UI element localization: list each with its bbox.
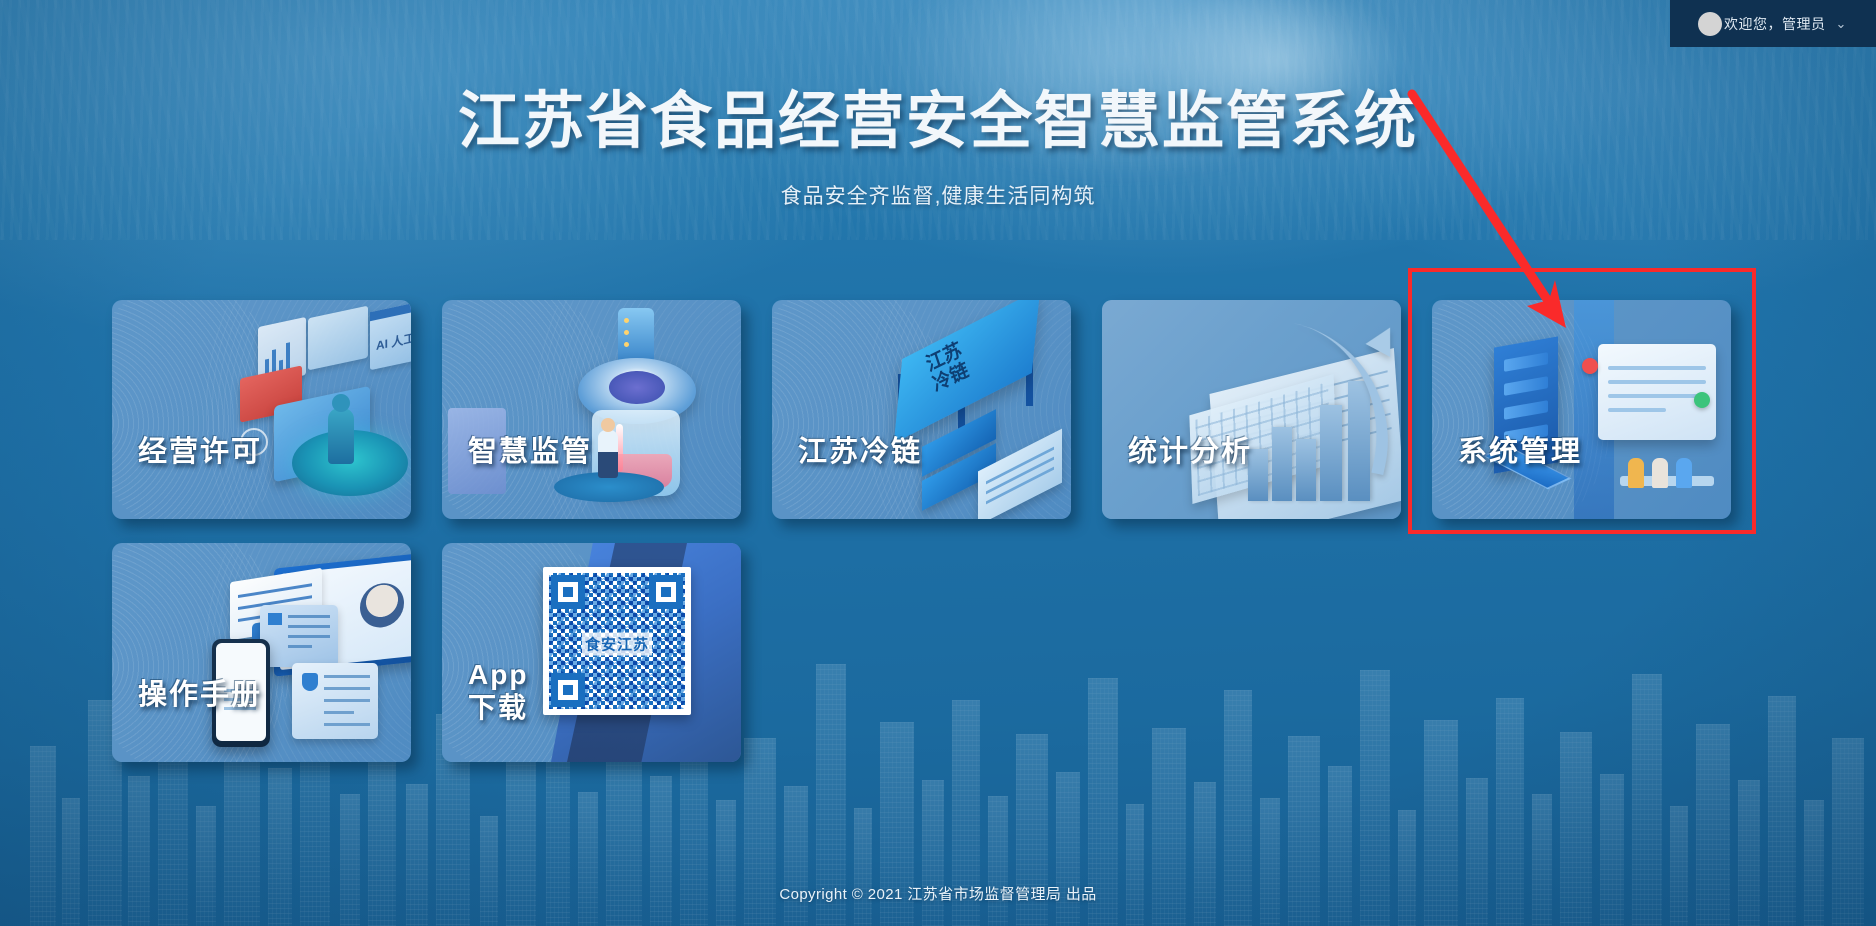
operation-manual-illustration xyxy=(112,543,411,762)
card-business-license[interactable]: AI 人工 经营许可 xyxy=(112,300,411,519)
card-label: 经营许可 xyxy=(138,428,262,470)
page-header: 江苏省食品经营安全智慧监管系统 食品安全齐监督,健康生活同构筑 xyxy=(0,0,1876,210)
card-label-line1: App xyxy=(468,659,528,690)
card-label: 系统管理 xyxy=(1458,428,1582,470)
card-system-management[interactable]: 系统管理 xyxy=(1432,300,1731,519)
smart-supervision-illustration xyxy=(442,300,741,519)
card-label-line2: 下载 xyxy=(468,692,528,723)
card-label: App 下载 xyxy=(468,658,528,724)
cold-chain-illustration: 江苏冷链 xyxy=(772,300,1071,519)
module-grid: AI 人工 经营许可 智慧监管 xyxy=(112,300,1772,762)
app-download-illustration: 食安江苏 xyxy=(442,543,741,762)
card-app-download[interactable]: 食安江苏 App 下载 xyxy=(442,543,741,762)
system-management-illustration xyxy=(1432,300,1731,519)
card-label: 统计分析 xyxy=(1128,428,1252,470)
card-jiangsu-cold-chain[interactable]: 江苏冷链 江苏冷链 xyxy=(772,300,1071,519)
cold-chain-slab-text: 江苏冷链 xyxy=(924,340,971,397)
card-label: 智慧监管 xyxy=(468,428,592,470)
card-label: 江苏冷链 xyxy=(798,428,922,470)
statistical-analysis-illustration xyxy=(1102,300,1401,519)
module-row-2: 操作手册 食安江苏 App 下载 xyxy=(112,543,1772,762)
page-title: 江苏省食品经营安全智慧监管系统 xyxy=(0,70,1876,160)
app-download-qr-code[interactable]: 食安江苏 xyxy=(543,567,691,715)
card-label: 操作手册 xyxy=(138,671,262,713)
footer-copyright: Copyright © 2021 江苏省市场监督管理局 出品 xyxy=(0,883,1876,904)
page-subtitle: 食品安全齐监督,健康生活同构筑 xyxy=(0,180,1876,210)
card-operation-manual[interactable]: 操作手册 xyxy=(112,543,411,762)
card-statistical-analysis[interactable]: 统计分析 xyxy=(1102,300,1401,519)
business-license-illustration: AI 人工 xyxy=(112,300,411,519)
module-row-1: AI 人工 经营许可 智慧监管 xyxy=(112,300,1772,519)
qr-code-brand-label: 食安江苏 xyxy=(582,632,652,655)
card-smart-supervision[interactable]: 智慧监管 xyxy=(442,300,741,519)
